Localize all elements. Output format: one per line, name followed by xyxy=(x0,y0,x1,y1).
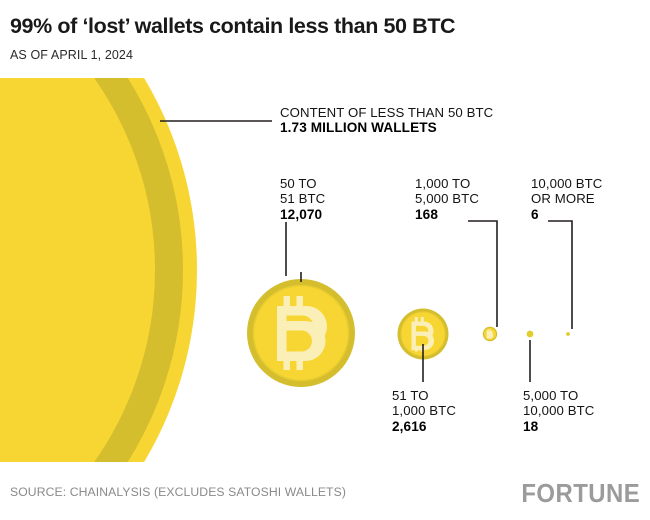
callout-value: 18 xyxy=(523,419,594,435)
coin-chart-graphic xyxy=(0,0,650,520)
callout-value: 2,616 xyxy=(392,419,456,435)
source-note: SOURCE: CHAINALYSIS (EXCLUDES SATOSHI WA… xyxy=(10,485,346,499)
callout-category-line1: 51 TO xyxy=(392,388,456,403)
callout-category-line2: 5,000 BTC xyxy=(415,191,479,206)
callout-value: 6 xyxy=(531,207,602,223)
coin-50-to-51-btc xyxy=(247,279,355,387)
fortune-logo: FORTUNE xyxy=(521,478,640,509)
callout-50-to-51-btc: 50 TO 51 BTC 12,070 xyxy=(280,176,325,222)
coin-10000-btc-or-more xyxy=(566,332,570,336)
callout-value: 168 xyxy=(415,207,479,223)
callout-category-line2: 1,000 BTC xyxy=(392,403,456,418)
leader-line-1000-to-5000-btc xyxy=(468,221,497,327)
leader-line-10000-btc-or-more xyxy=(548,221,572,329)
callout-category-line1: 1,000 TO xyxy=(415,176,479,191)
callout-category-line2: OR MORE xyxy=(531,191,602,206)
callout-category-line2: 51 BTC xyxy=(280,191,325,206)
coin-5000-to-10000-btc xyxy=(527,331,534,338)
callout-category: CONTENT OF LESS THAN 50 BTC xyxy=(280,105,493,120)
coin-less-than-50-btc xyxy=(0,0,197,520)
callout-category-line1: 5,000 TO xyxy=(523,388,594,403)
callout-value: 1.73 MILLION WALLETS xyxy=(280,120,493,136)
callout-category-line1: 50 TO xyxy=(280,176,325,191)
callout-5000-to-10000-btc: 5,000 TO 10,000 BTC 18 xyxy=(523,388,594,434)
callout-category-line1: 10,000 BTC xyxy=(531,176,602,191)
callout-1000-to-5000-btc: 1,000 TO 5,000 BTC 168 xyxy=(415,176,479,222)
coin-5000-face xyxy=(527,331,534,338)
infographic-canvas: 99% of ‘lost’ wallets contain less than … xyxy=(0,0,650,520)
coin-10000-face xyxy=(566,332,570,336)
callout-category-line2: 10,000 BTC xyxy=(523,403,594,418)
callout-51-to-1000-btc: 51 TO 1,000 BTC 2,616 xyxy=(392,388,456,434)
callout-10000-btc-or-more: 10,000 BTC OR MORE 6 xyxy=(531,176,602,222)
callout-less-than-50-btc: CONTENT OF LESS THAN 50 BTC 1.73 MILLION… xyxy=(280,105,493,136)
coin-1000-to-5000-btc xyxy=(483,327,497,341)
callout-value: 12,070 xyxy=(280,207,325,223)
